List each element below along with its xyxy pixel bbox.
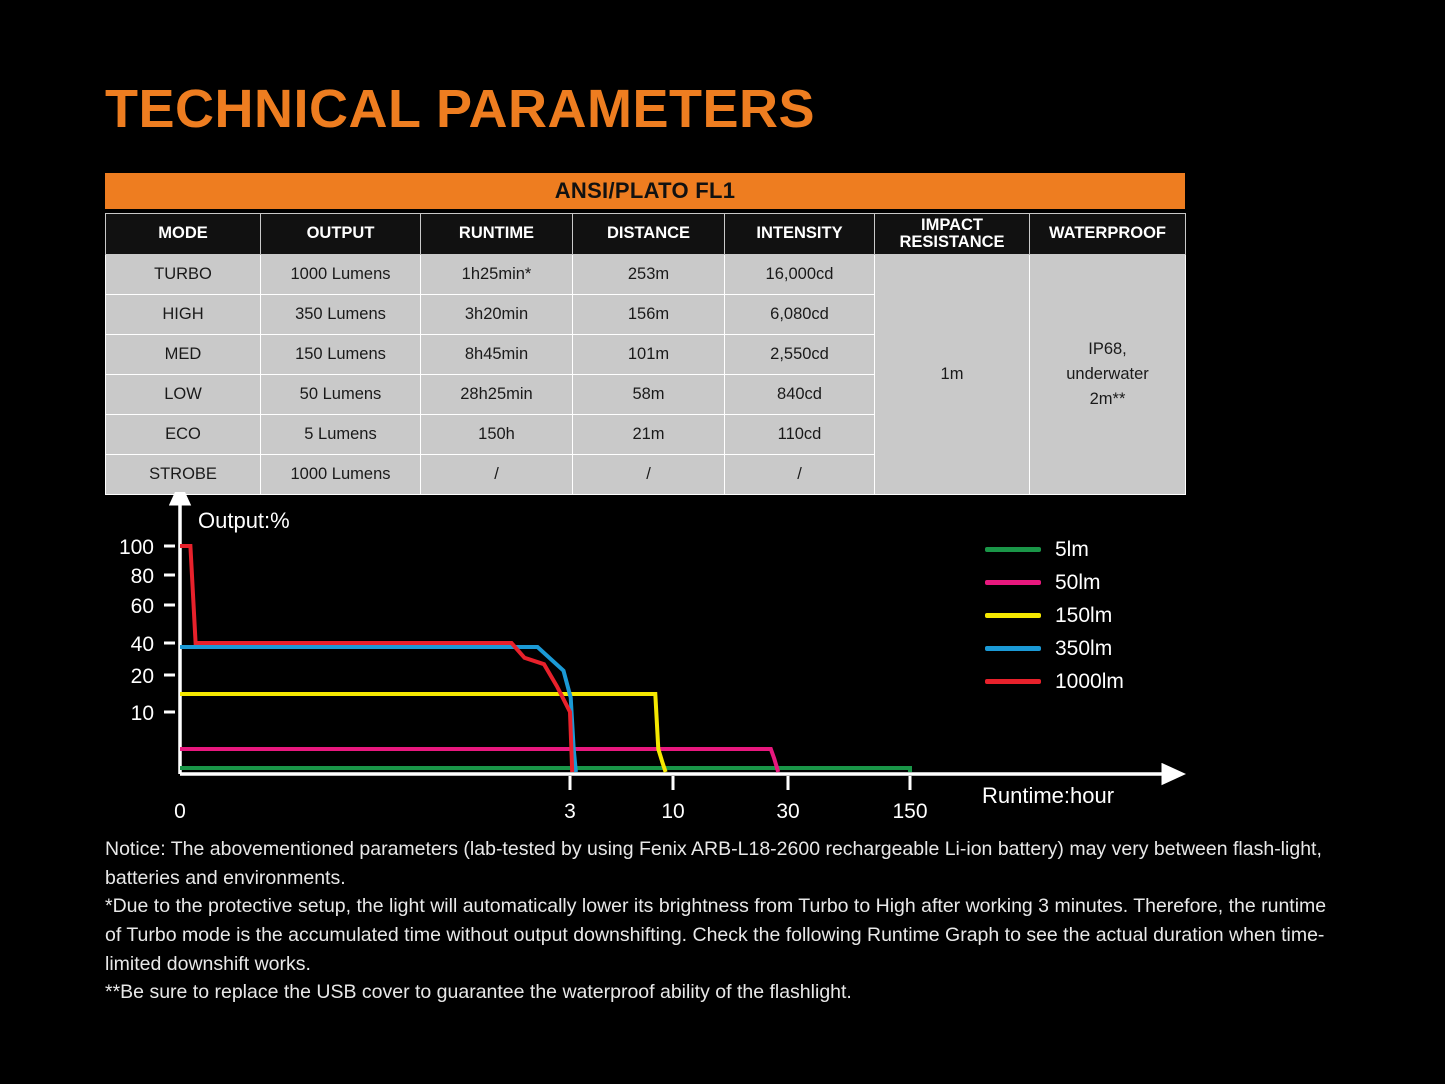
legend-swatch-icon (985, 547, 1041, 552)
cell-distance: 58m (573, 375, 725, 415)
notice-line-2: *Due to the protective setup, the light … (105, 892, 1345, 978)
legend-swatch-icon (985, 580, 1041, 585)
y-tick-label: 10 (131, 702, 154, 725)
y-tick-label: 60 (131, 595, 154, 618)
column-header-mode: MODE (106, 214, 261, 255)
cell-output: 350 Lumens (261, 295, 421, 335)
column-header-waterproof: WATERPROOF (1030, 214, 1186, 255)
page-root: TECHNICAL PARAMETERS ANSI/PLATO FL1 MODE… (0, 0, 1445, 1084)
cell-mode: HIGH (106, 295, 261, 335)
cell-runtime: 1h25min* (421, 255, 573, 295)
chart-series-350lm (180, 647, 576, 772)
chart-legend: 5lm50lm150lm350lm1000lm (985, 533, 1124, 698)
cell-distance: 156m (573, 295, 725, 335)
cell-distance: 101m (573, 335, 725, 375)
cell-mode: ECO (106, 415, 261, 455)
legend-label: 1000lm (1055, 670, 1124, 694)
legend-swatch-icon (985, 646, 1041, 651)
cell-runtime: / (421, 455, 573, 495)
cell-runtime: 8h45min (421, 335, 573, 375)
cell-distance: 21m (573, 415, 725, 455)
legend-swatch-icon (985, 679, 1041, 684)
x-tick-label: 0 (174, 800, 186, 822)
y-tick-label: 100 (119, 536, 154, 559)
cell-distance: / (573, 455, 725, 495)
cell-mode: LOW (106, 375, 261, 415)
cell-intensity: / (725, 455, 875, 495)
cell-intensity: 6,080cd (725, 295, 875, 335)
ansi-plato-banner: ANSI/PLATO FL1 (105, 173, 1185, 209)
spec-table: MODE OUTPUT RUNTIME DISTANCE INTENSITY I… (105, 213, 1186, 495)
cell-intensity: 2,550cd (725, 335, 875, 375)
x-tick-label: 150 (892, 800, 927, 822)
x-tick-label: 3 (564, 800, 576, 822)
table-header-row: MODE OUTPUT RUNTIME DISTANCE INTENSITY I… (106, 214, 1186, 255)
notice-line-3: **Be sure to replace the USB cover to gu… (105, 978, 1345, 1007)
cell-intensity: 16,000cd (725, 255, 875, 295)
column-header-impact-resistance: IMPACT RESISTANCE (875, 214, 1030, 255)
cell-mode: STROBE (106, 455, 261, 495)
cell-runtime: 3h20min (421, 295, 573, 335)
notice-line-1: Notice: The abovementioned parameters (l… (105, 835, 1345, 892)
column-header-runtime: RUNTIME (421, 214, 573, 255)
cell-waterproof: IP68,underwater2m** (1030, 255, 1186, 495)
y-tick-label: 80 (131, 565, 154, 588)
impact-line-2: RESISTANCE (876, 234, 1028, 251)
notice-block: Notice: The abovementioned parameters (l… (105, 835, 1345, 1007)
cell-runtime: 28h25min (421, 375, 573, 415)
chart-series-1000lm (180, 546, 572, 772)
column-header-distance: DISTANCE (573, 214, 725, 255)
chart-series-150lm (180, 694, 666, 772)
impact-line-1: IMPACT (876, 217, 1028, 234)
legend-item: 50lm (985, 566, 1124, 599)
legend-item: 1000lm (985, 665, 1124, 698)
legend-label: 350lm (1055, 637, 1112, 661)
cell-output: 150 Lumens (261, 335, 421, 375)
cell-impact-resistance: 1m (875, 255, 1030, 495)
cell-output: 1000 Lumens (261, 255, 421, 295)
y-tick-label: 20 (131, 665, 154, 688)
cell-output: 1000 Lumens (261, 455, 421, 495)
spec-table-container: ANSI/PLATO FL1 MODE OUTPUT RUNTIME DISTA… (105, 173, 1185, 495)
cell-runtime: 150h (421, 415, 573, 455)
cell-output: 50 Lumens (261, 375, 421, 415)
legend-label: 150lm (1055, 604, 1112, 628)
cell-intensity: 110cd (725, 415, 875, 455)
table-row: TURBO1000 Lumens1h25min*253m16,000cd1mIP… (106, 255, 1186, 295)
y-tick-label: 40 (131, 633, 154, 656)
cell-output: 5 Lumens (261, 415, 421, 455)
x-tick-label: 10 (661, 800, 684, 822)
cell-distance: 253m (573, 255, 725, 295)
legend-label: 50lm (1055, 571, 1101, 595)
cell-intensity: 840cd (725, 375, 875, 415)
cell-mode: TURBO (106, 255, 261, 295)
legend-label: 5lm (1055, 538, 1089, 562)
legend-item: 5lm (985, 533, 1124, 566)
chart-series-5lm (180, 768, 910, 772)
legend-swatch-icon (985, 613, 1041, 618)
x-tick-label: 30 (776, 800, 799, 822)
legend-item: 150lm (985, 599, 1124, 632)
legend-item: 350lm (985, 632, 1124, 665)
page-title: TECHNICAL PARAMETERS (105, 82, 815, 136)
cell-mode: MED (106, 335, 261, 375)
column-header-intensity: INTENSITY (725, 214, 875, 255)
column-header-output: OUTPUT (261, 214, 421, 255)
